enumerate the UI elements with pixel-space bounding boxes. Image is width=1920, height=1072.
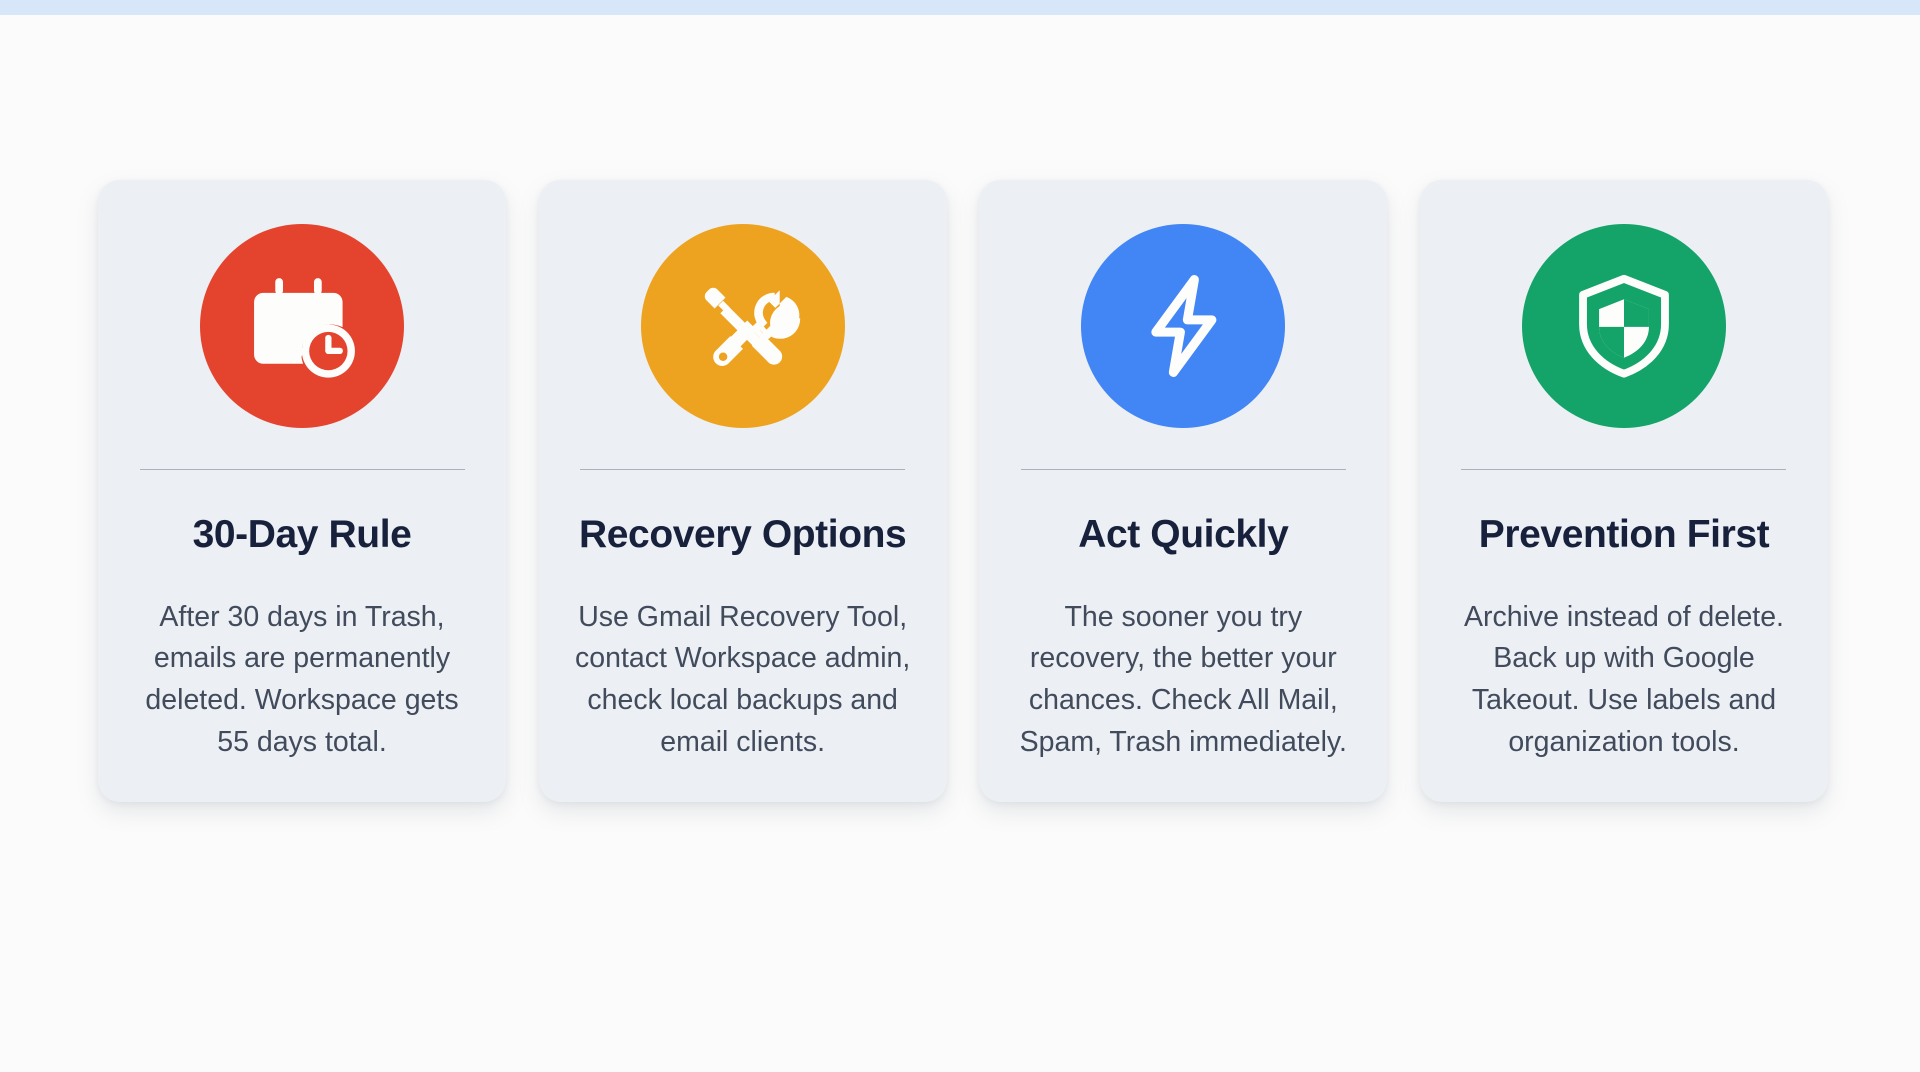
lightning-bolt-icon — [1081, 224, 1285, 428]
card-title: Recovery Options — [539, 511, 947, 559]
info-card[interactable]: Recovery Options Use Gmail Recovery Tool… — [539, 180, 947, 802]
tools-icon — [641, 224, 845, 428]
card-divider — [140, 469, 465, 470]
card-body-text: The sooner you try recovery, the better … — [979, 597, 1387, 765]
info-card[interactable]: Prevention First Archive instead of dele… — [1420, 180, 1828, 802]
card-divider — [1461, 469, 1786, 470]
info-cards-row: 30-Day Rule After 30 days in Trash, emai… — [98, 180, 1828, 802]
info-card[interactable]: Act Quickly The sooner you try recovery,… — [979, 180, 1387, 802]
card-divider — [1021, 469, 1346, 470]
top-accent-strip — [0, 0, 1920, 15]
card-body-text: Archive instead of delete. Back up with … — [1420, 597, 1828, 765]
card-body-text: Use Gmail Recovery Tool, contact Workspa… — [539, 597, 947, 765]
info-card[interactable]: 30-Day Rule After 30 days in Trash, emai… — [98, 180, 506, 802]
card-title: 30-Day Rule — [98, 511, 506, 559]
card-body-text: After 30 days in Trash, emails are perma… — [98, 597, 506, 765]
shield-icon — [1522, 224, 1726, 428]
card-title: Act Quickly — [979, 511, 1387, 559]
cards-stage: 30-Day Rule After 30 days in Trash, emai… — [0, 15, 1920, 1072]
card-divider — [580, 469, 905, 470]
card-title: Prevention First — [1420, 511, 1828, 559]
calendar-clock-icon — [200, 224, 404, 428]
